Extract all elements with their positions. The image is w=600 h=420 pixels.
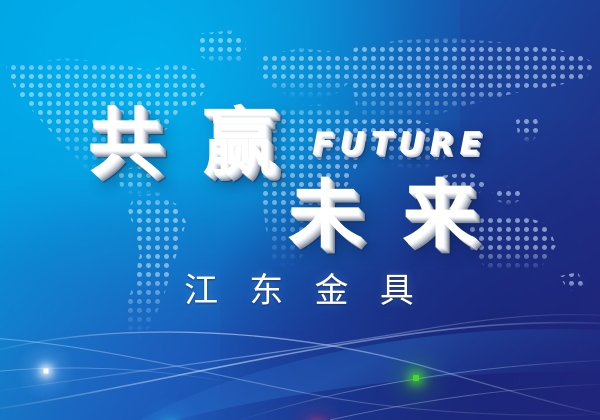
background-gradient — [0, 0, 600, 420]
promo-banner: 共 赢 FUTURE 未 来 江 东 金 具 — [0, 0, 600, 420]
